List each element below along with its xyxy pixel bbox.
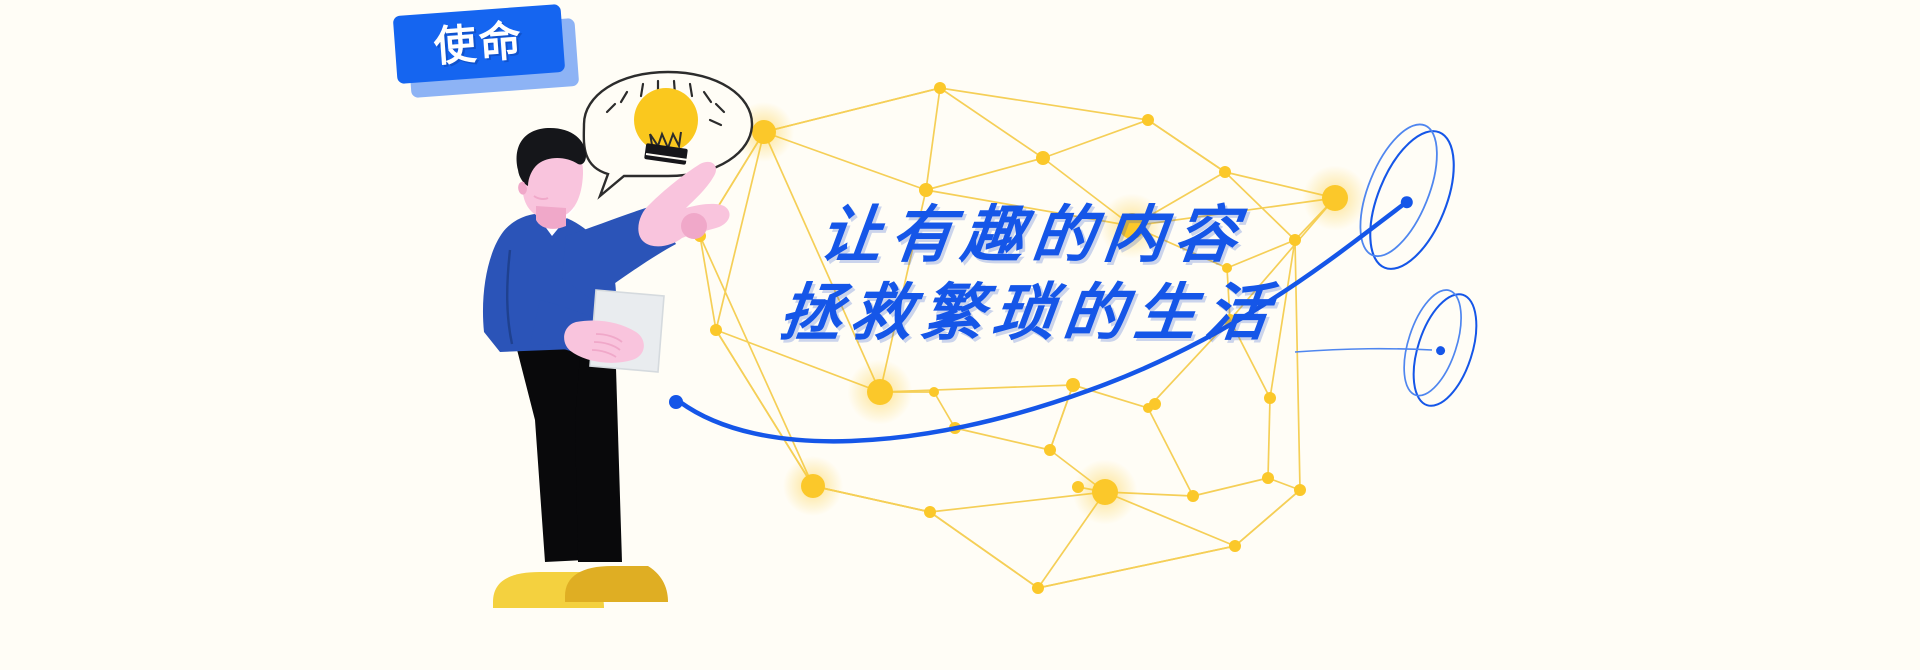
badge-front: 使命 xyxy=(393,4,566,84)
mission-badge[interactable]: 使命 xyxy=(395,8,575,86)
badge-layer: 使命 xyxy=(0,0,1920,670)
mission-hero-banner: 让有趣的内容 拯救繁琐的生活 xyxy=(0,0,1920,670)
badge-label: 使命 xyxy=(433,20,526,68)
